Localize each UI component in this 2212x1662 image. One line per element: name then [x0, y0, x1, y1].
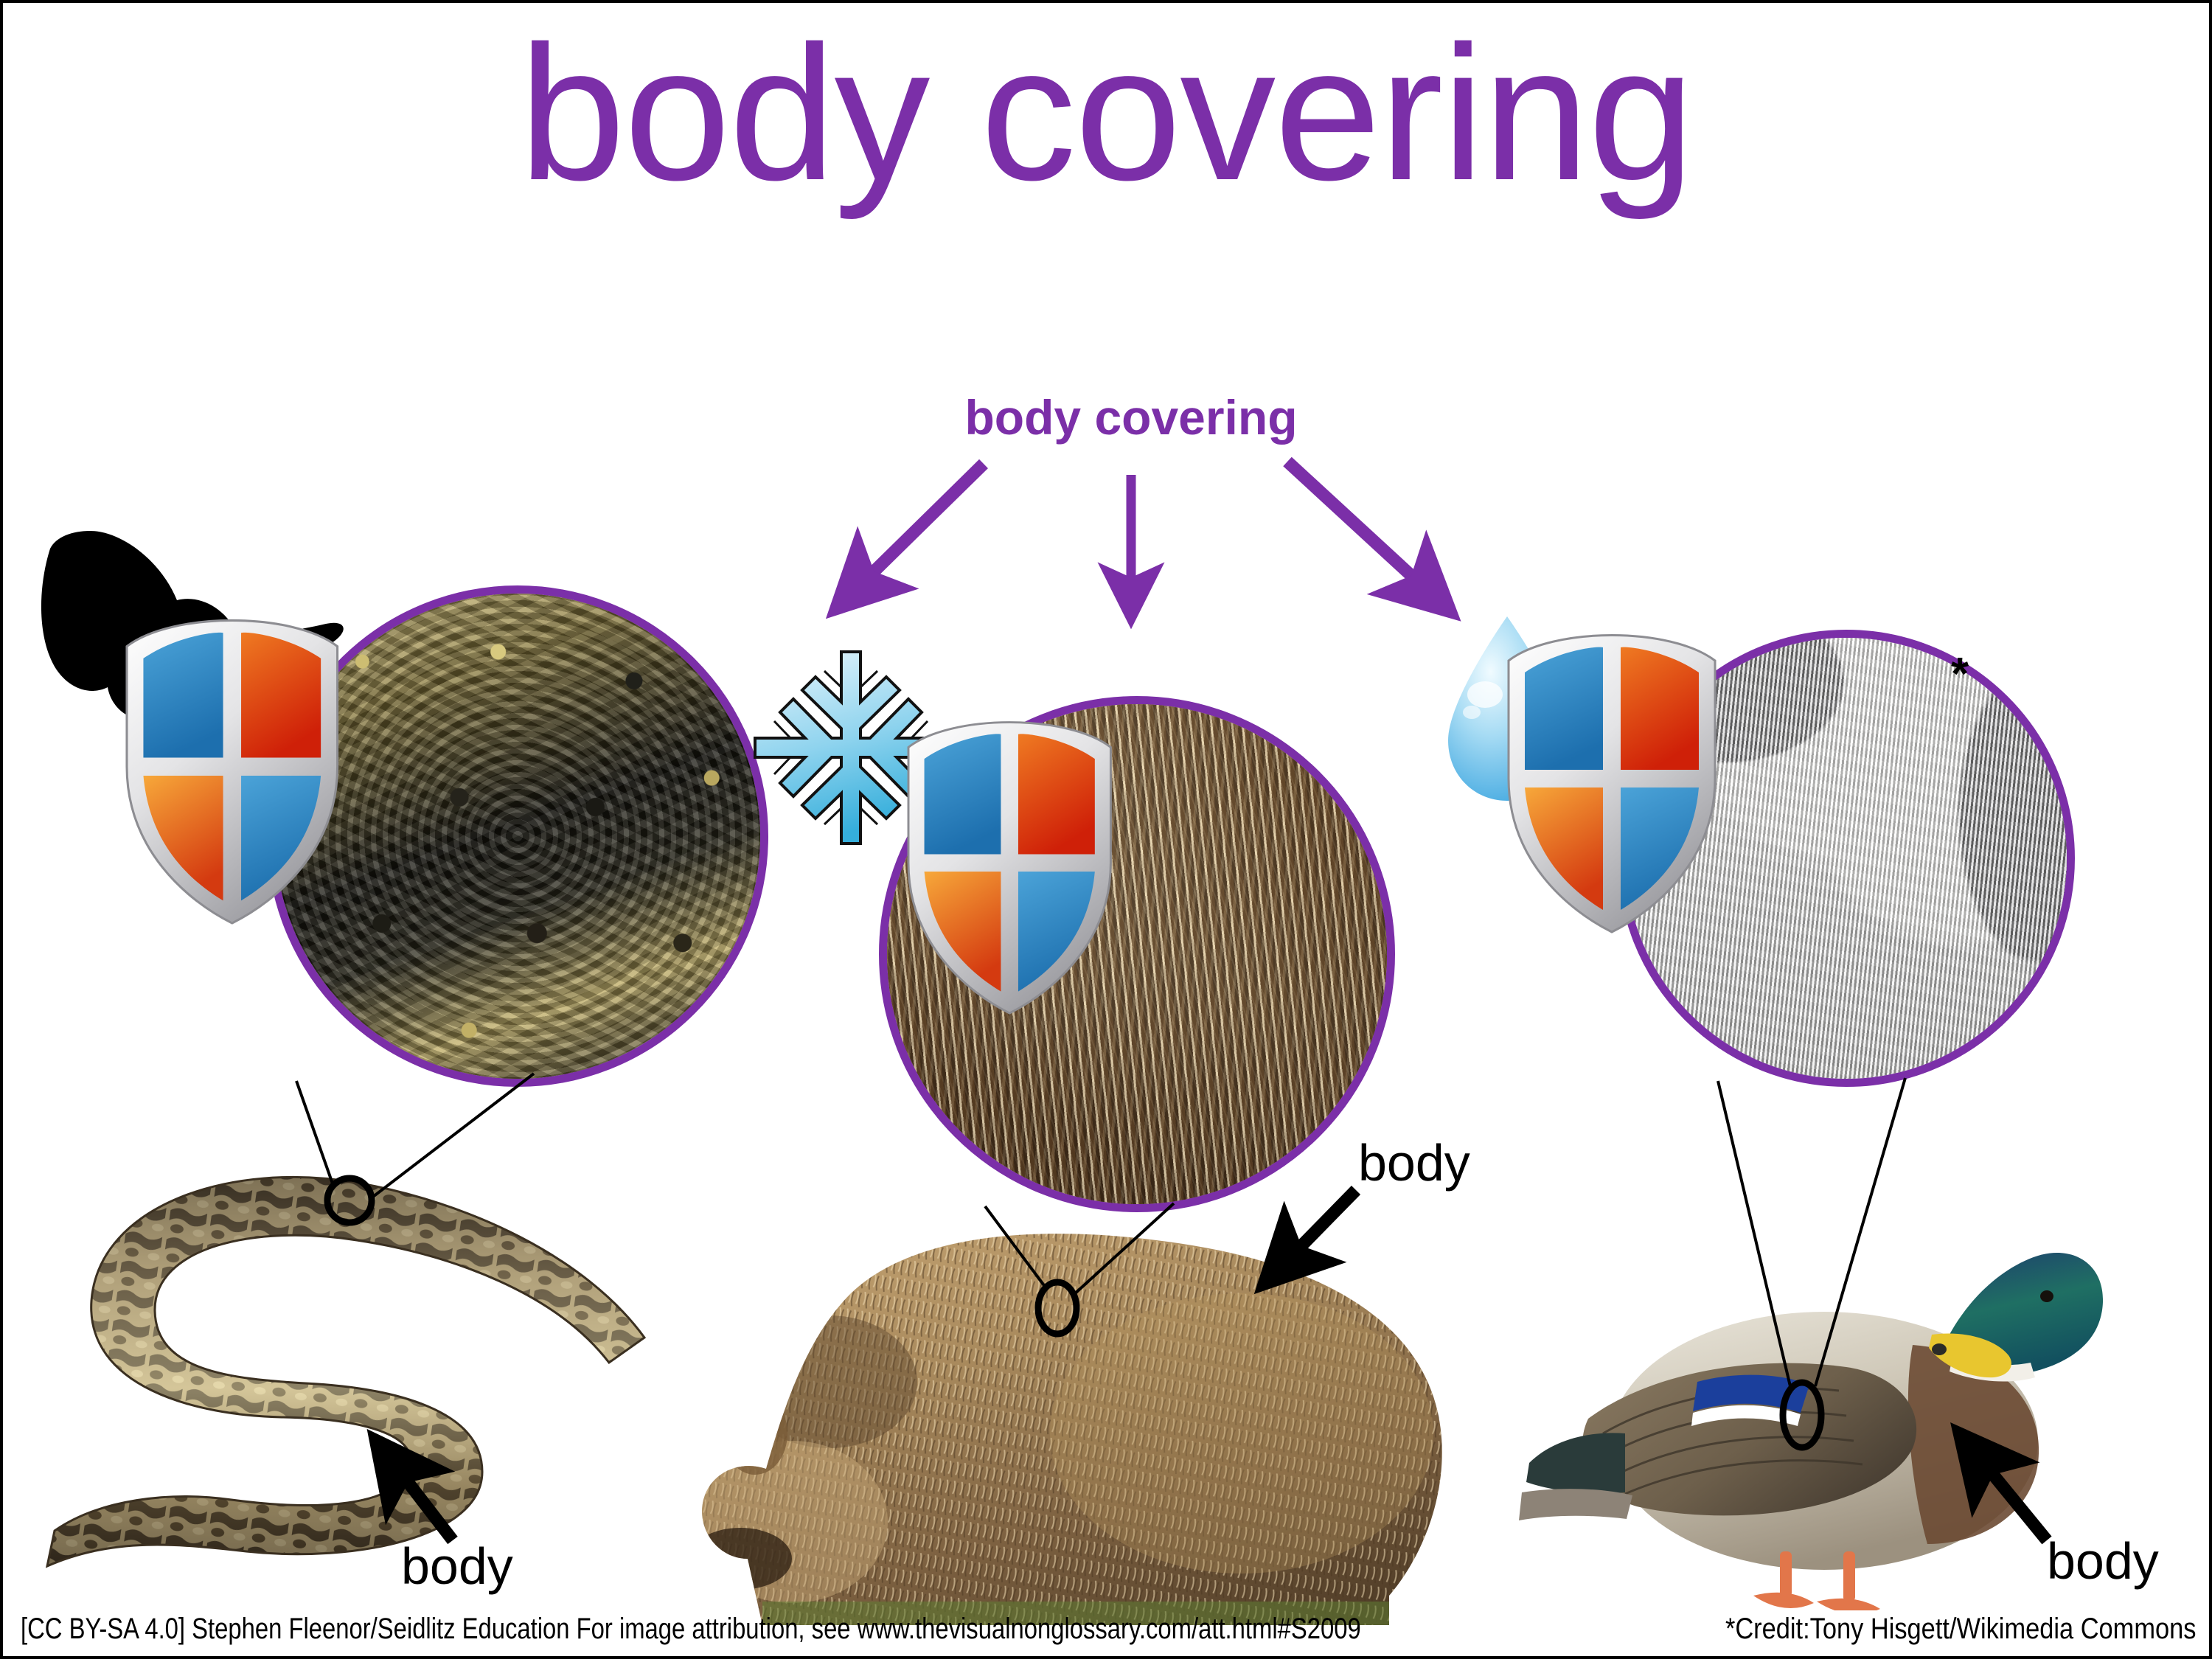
credit-asterisk: * — [1951, 652, 1969, 698]
page-title: body covering — [3, 18, 2209, 209]
snake-photo — [10, 1153, 674, 1581]
footer-attribution: [CC BY-SA 4.0] Stephen Fleenor/Seidlitz … — [21, 1613, 1361, 1646]
footer-credit: *Credit:Tony Hisgett/Wikimedia Commons — [1725, 1613, 2196, 1646]
magnifier-scales — [267, 585, 768, 1087]
arrow-to-bird — [1287, 462, 1426, 589]
feathers-texture — [1626, 638, 2067, 1079]
bear-photo — [608, 1212, 1507, 1625]
scales-texture — [275, 594, 760, 1079]
fur-texture — [887, 704, 1387, 1204]
body-label-duck: body — [2047, 1535, 2159, 1587]
body-label-bear: body — [1358, 1137, 1470, 1189]
magnifier-feathers — [1618, 630, 2075, 1087]
footer: [CC BY-SA 4.0] Stephen Fleenor/Seidlitz … — [3, 1604, 2209, 1652]
body-label-snake: body — [401, 1540, 513, 1592]
arrow-to-reptile — [860, 464, 984, 585]
slide-canvas: body covering body covering — [0, 0, 2212, 1659]
magnifier-fur — [879, 696, 1395, 1212]
water-drop-icon — [1448, 616, 1566, 801]
term-label: body covering — [961, 389, 1301, 445]
